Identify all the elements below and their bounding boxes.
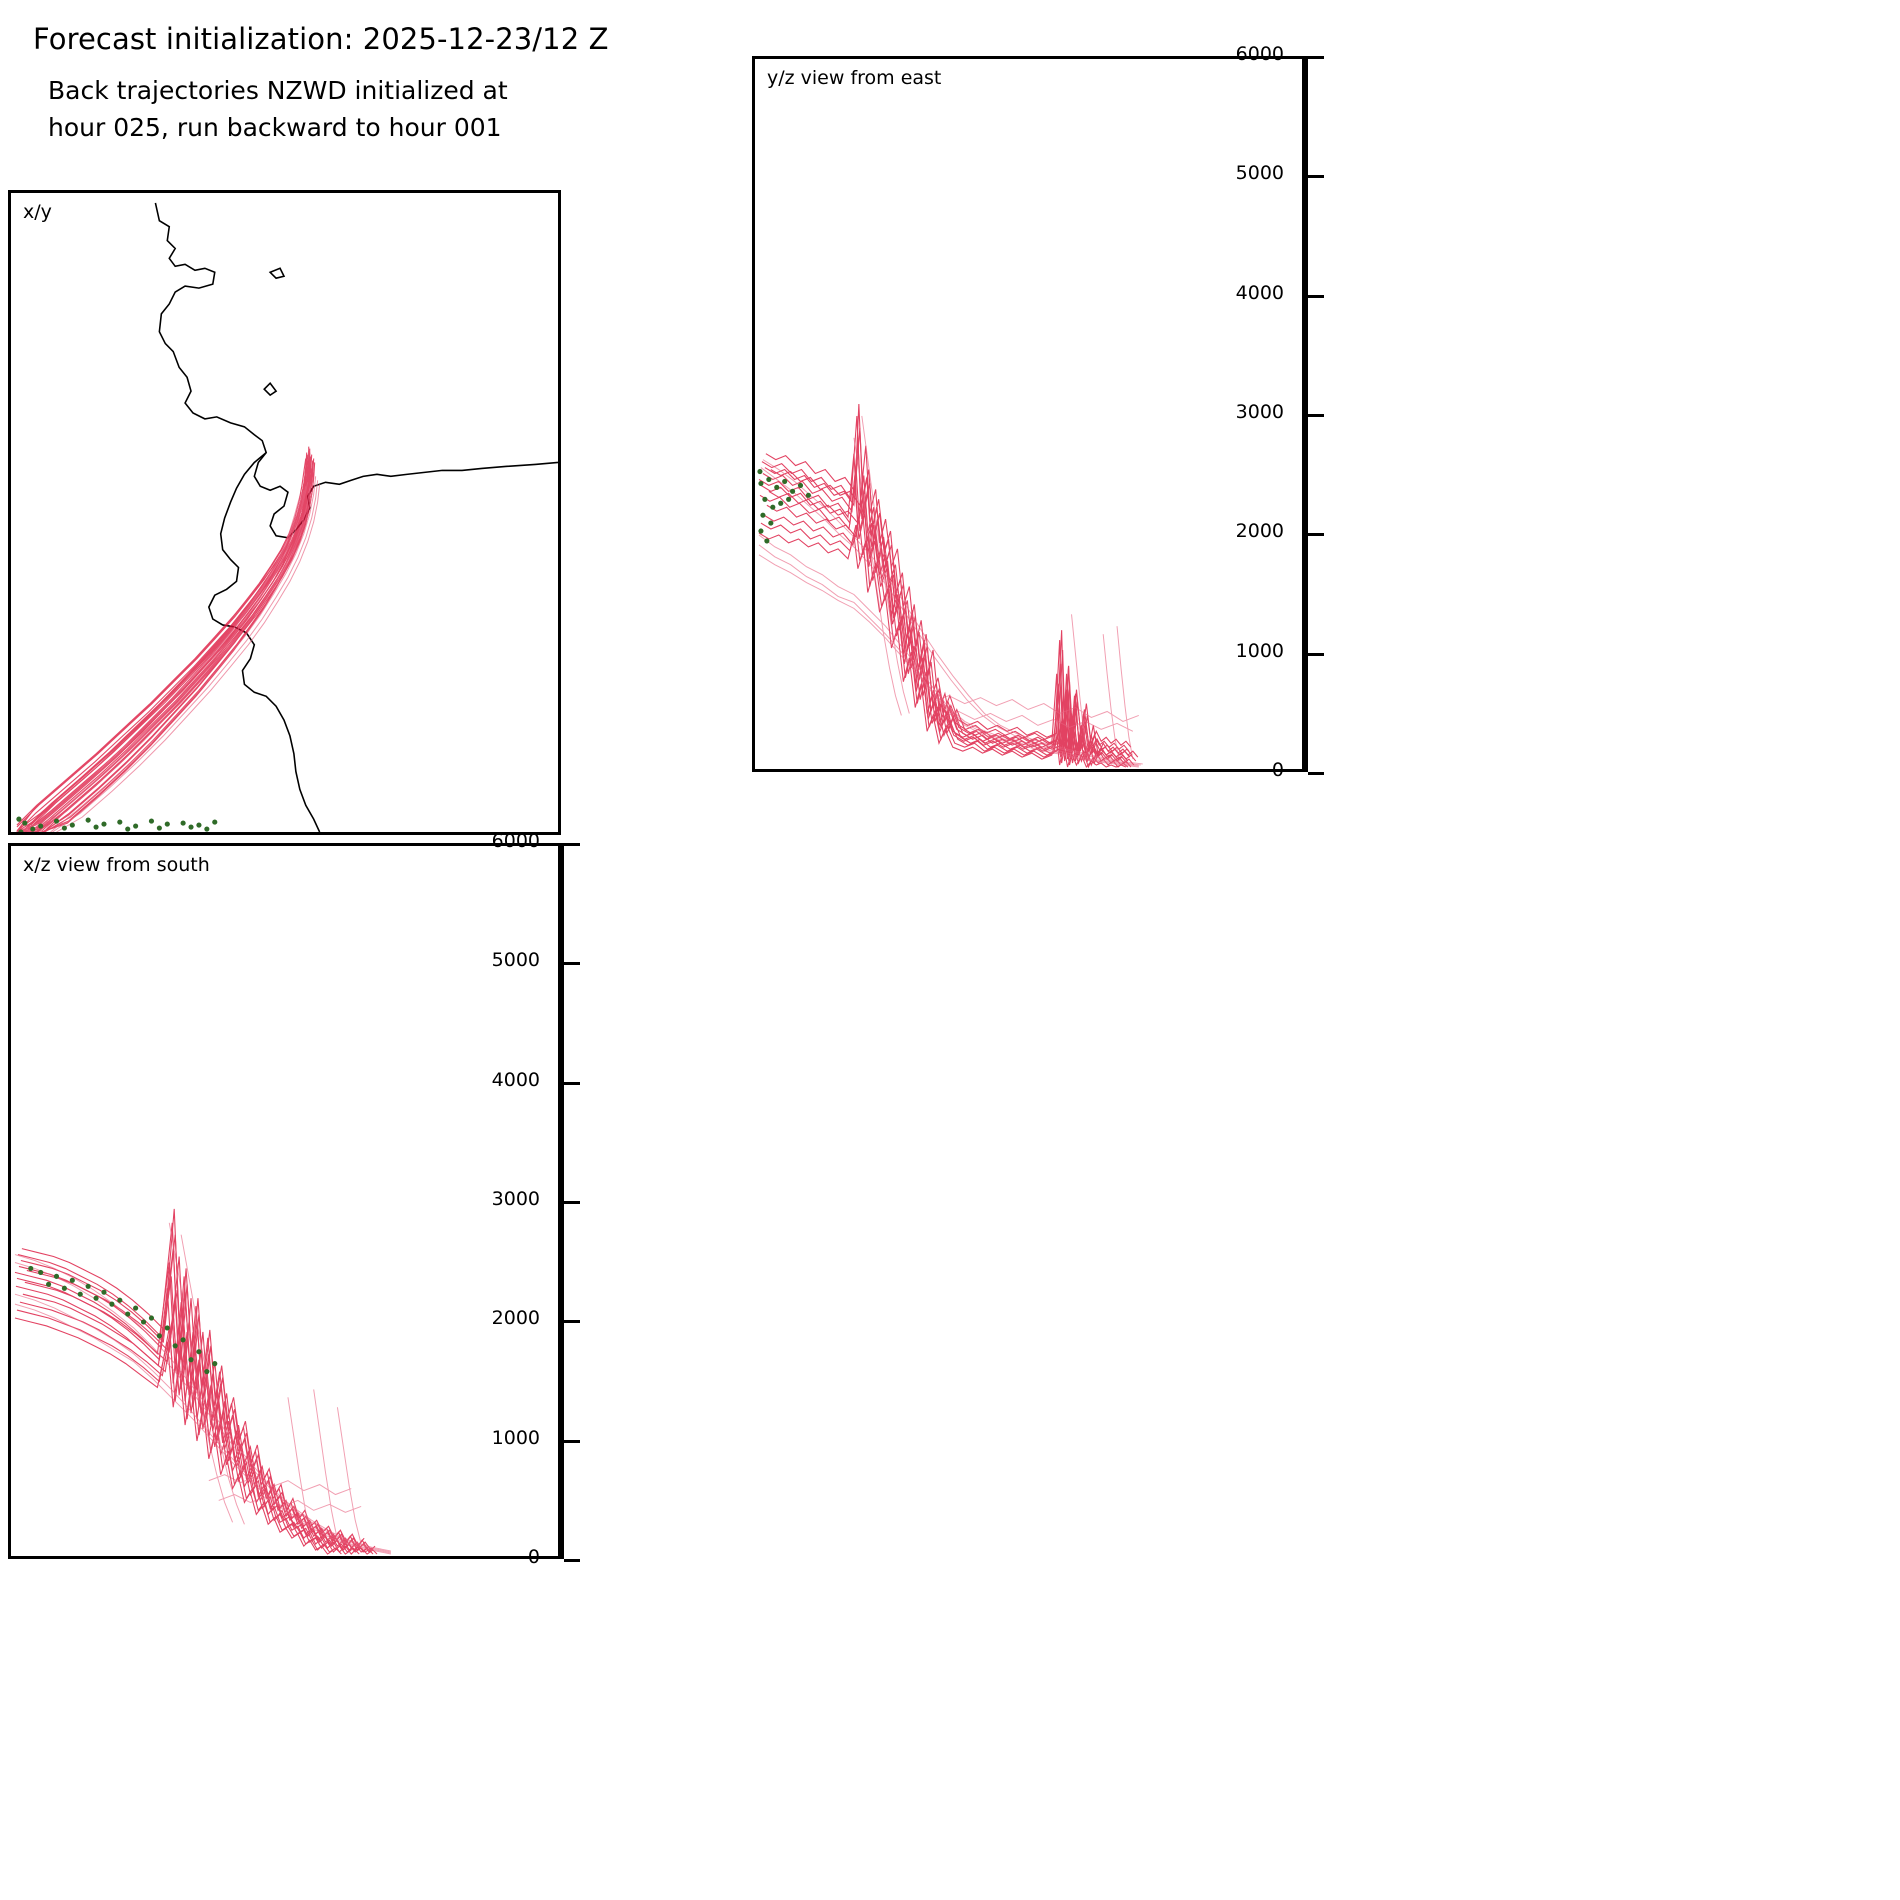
yz-tick-4000-label: 4000 [1236,282,1284,304]
yz-tick-0-label: 0 [1272,759,1284,781]
coastline-path [155,203,558,832]
xz-tick-4000-label: 4000 [492,1069,540,1091]
panel-xy-map[interactable]: x/y [8,190,561,835]
xz-tick-2000-label: 2000 [492,1307,540,1329]
page-subtitle: Back trajectories NZWD initialized at ho… [48,72,508,146]
xz-tick-0-label: 0 [528,1546,540,1568]
yz-tick-1000-label: 1000 [1236,640,1284,662]
yz-tick-3000-label: 3000 [1236,401,1284,423]
xy-trajectory-plot [11,193,558,832]
xz-trajectory-plot [11,846,558,1556]
trajectory-lines [17,447,315,832]
panel-yz-view-from-east[interactable]: y/z view from east [752,56,1305,772]
xz-tick-6000-label: 6000 [492,830,540,852]
page-title: Forecast initialization: 2025-12-23/12 Z [33,22,609,56]
yz-trajectory-lines [759,404,1138,767]
xz-tick-5000-label: 5000 [492,949,540,971]
panel-xz-view-from-south[interactable]: x/z view from south [8,843,561,1559]
xz-axis: 6000 5000 4000 3000 2000 1000 0 [561,843,564,1559]
xz-trajectory-lines-light [15,1223,391,1554]
yz-axis: 6000 5000 4000 3000 2000 1000 0 [1305,56,1308,772]
yz-trajectory-plot [755,59,1302,769]
panel-xy-label: x/y [23,201,52,223]
subtitle-line-2: hour 025, run backward to hour 001 [48,113,502,142]
xz-tick-1000-label: 1000 [492,1427,540,1449]
yz-tick-2000-label: 2000 [1236,520,1284,542]
xz-trajectory-lines [15,1209,377,1554]
xz-tick-3000-label: 3000 [492,1188,540,1210]
panel-xz-label: x/z view from south [23,854,210,876]
yz-tick-6000-label: 6000 [1236,43,1284,65]
subtitle-line-1: Back trajectories NZWD initialized at [48,76,508,105]
panel-yz-label: y/z view from east [767,67,941,89]
yz-tick-5000-label: 5000 [1236,162,1284,184]
trajectory-lines-light [17,476,320,832]
